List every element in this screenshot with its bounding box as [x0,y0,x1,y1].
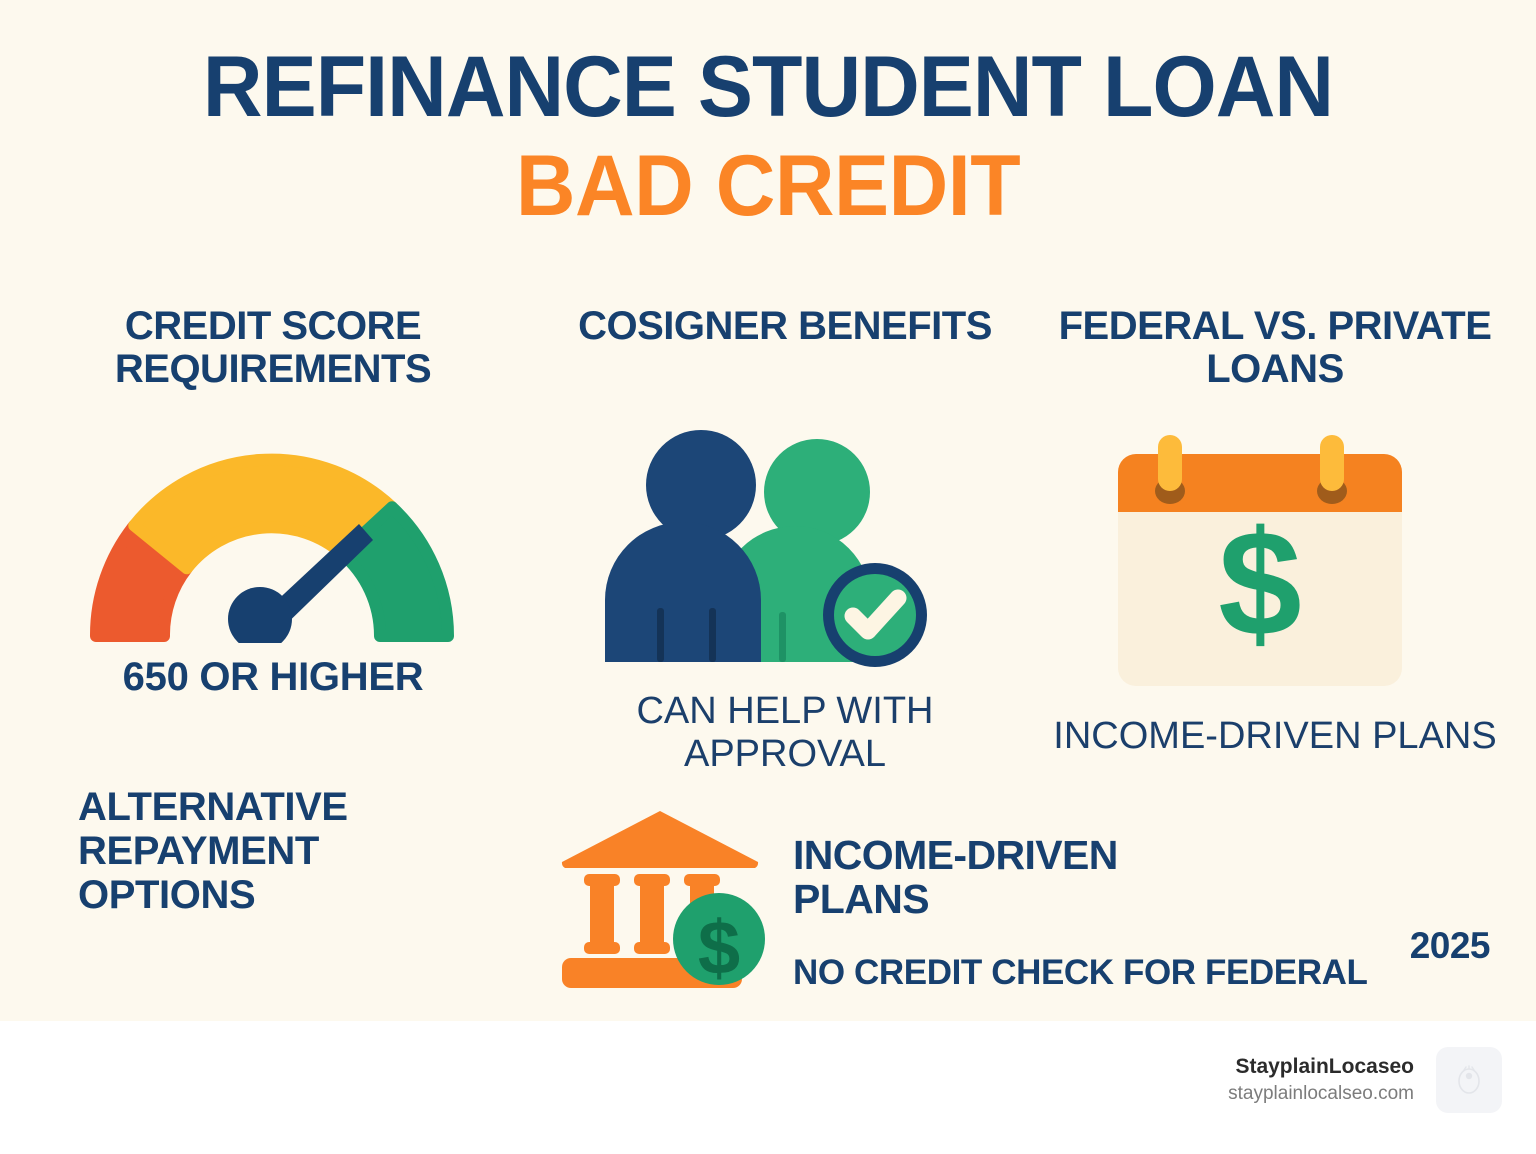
person-navy-head [646,430,756,540]
bank-coin-dollar-glyph: $ [698,906,740,991]
gauge-hub [228,587,292,643]
footer-content: StayplainLocaseo stayplainlocalseo.com [1228,1047,1502,1113]
calendar-dollar-glyph: $ [1218,499,1301,667]
column-heading-credit-score: CREDIT SCORE REQUIREMENTS [28,305,518,391]
person-navy-collar-right [709,608,716,662]
column-heading-federal-private: FEDERAL VS. PRIVATE LOANS [1040,305,1510,391]
two-people-approved-icon [595,430,975,670]
person-green-collar [779,612,786,662]
title-line-secondary: BAD CREDIT [31,140,1506,233]
calendar-dollar-icon: $ [1110,432,1410,694]
page-title: REFINANCE STUDENT LOAN BAD CREDIT [0,44,1536,233]
alternative-repayment-heading: ALTERNATIVE REPAYMENT OPTIONS [78,785,498,917]
income-driven-plans-heading: INCOME-DRIVEN PLANS [793,833,1263,922]
credit-score-gauge-icon [82,428,462,643]
person-navy-body [605,522,761,662]
column-caption-federal-private: INCOME-DRIVEN PLANS [1040,715,1510,758]
bank-roof [562,811,758,868]
title-line-primary: REFINANCE STUDENT LOAN [31,44,1506,130]
bank-dollar-coin-icon: $ [552,806,776,998]
infographic-board: REFINANCE STUDENT LOAN BAD CREDIT CREDIT… [0,0,1536,1021]
footer-brand-name: StayplainLocaseo [1228,1053,1414,1081]
placeholder-logo-icon [1436,1047,1502,1113]
year-label: 2025 [1410,925,1490,967]
column-caption-cosigner: CAN HELP WITH APPROVAL [555,690,1015,775]
infographic-canvas: REFINANCE STUDENT LOAN BAD CREDIT CREDIT… [0,0,1536,1154]
calendar-ring-left [1158,435,1182,491]
column-heading-cosigner: COSIGNER BENEFITS [560,305,1010,348]
no-credit-check-note: NO CREDIT CHECK FOR FEDERAL [793,955,1453,992]
person-navy-collar-left [657,608,664,662]
footer-bar: StayplainLocaseo stayplainlocalseo.com [0,1021,1536,1154]
footer-text-block: StayplainLocaseo stayplainlocalseo.com [1228,1053,1414,1108]
footer-site-url[interactable]: stayplainlocalseo.com [1228,1081,1414,1108]
column-caption-credit-score: 650 OR HIGHER [28,655,518,699]
calendar-ring-right [1320,435,1344,491]
